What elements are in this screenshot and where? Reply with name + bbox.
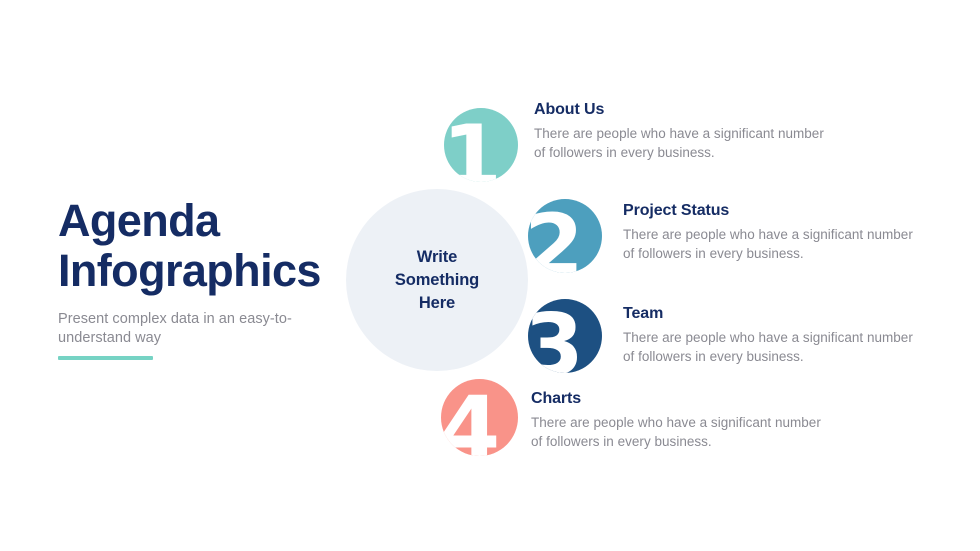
page-subtitle: Present complex data in an easy-to-under… xyxy=(58,310,304,348)
title-block: Agenda Infographics Present complex data… xyxy=(58,196,338,348)
step-number-4: 4 xyxy=(441,385,500,456)
step-text-3: Team There are people who have a signifi… xyxy=(623,305,923,366)
center-hub-label: Write Something Here xyxy=(395,246,479,315)
step-text-4: Charts There are people who have a signi… xyxy=(531,390,831,451)
step-heading-3: Team xyxy=(623,305,923,323)
step-description-1: There are people who have a significant … xyxy=(534,125,834,162)
center-hub-circle: Write Something Here xyxy=(346,189,528,371)
step-heading-1: About Us xyxy=(534,101,834,119)
step-description-4: There are people who have a significant … xyxy=(531,414,831,451)
step-text-2: Project Status There are people who have… xyxy=(623,202,923,263)
step-heading-4: Charts xyxy=(531,390,831,408)
step-number-2: 2 xyxy=(528,203,584,273)
accent-bar xyxy=(58,356,153,360)
step-description-2: There are people who have a significant … xyxy=(623,226,923,263)
step-number-3: 3 xyxy=(528,303,584,373)
page-title: Agenda Infographics xyxy=(58,196,338,296)
step-text-1: About Us There are people who have a sig… xyxy=(534,101,834,162)
step-heading-2: Project Status xyxy=(623,202,923,220)
step-circle-1[interactable]: 1 xyxy=(444,108,518,182)
step-circle-4[interactable]: 4 xyxy=(441,379,518,456)
step-circle-2[interactable]: 2 xyxy=(528,199,602,273)
agenda-infographic-slide: Agenda Infographics Present complex data… xyxy=(0,0,980,551)
step-number-1: 1 xyxy=(444,114,502,182)
step-description-3: There are people who have a significant … xyxy=(623,329,923,366)
step-circle-3[interactable]: 3 xyxy=(528,299,602,373)
